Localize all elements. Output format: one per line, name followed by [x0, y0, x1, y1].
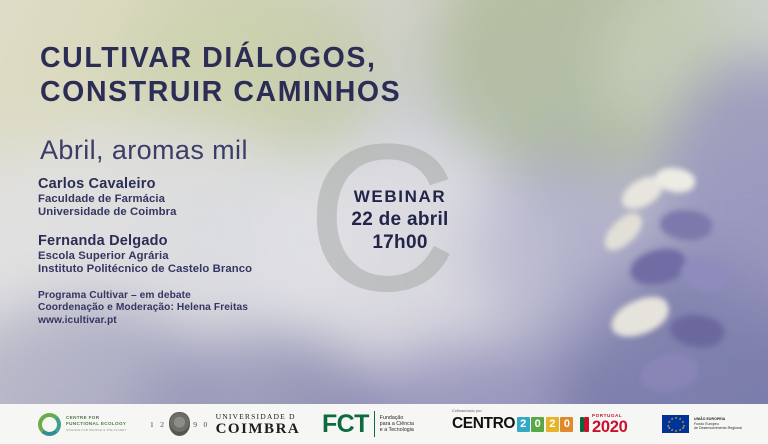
event-time: 17h00	[330, 231, 470, 254]
coimbra-line-2: COIMBRA	[216, 421, 301, 437]
speaker-item: Carlos Cavaleiro Faculdade de Farmácia U…	[38, 176, 252, 220]
title-line-1: CULTIVAR DIÁLOGOS,	[40, 41, 401, 75]
eu-line-3: de Desenvolvimento Regional	[694, 426, 742, 430]
coimbra-year-left: 1 2	[150, 420, 166, 429]
event-details: WEBINAR 22 de abril 17h00	[330, 186, 470, 254]
centro-digit-2: 0	[531, 417, 544, 432]
logo-portugal-2020: PORTUGAL 2020	[580, 413, 628, 435]
logo-centro-2020: CENTRO 2 0 2 0	[452, 415, 573, 433]
portugal-flag-icon	[580, 416, 589, 433]
webinar-poster: C CULTIVAR DIÁLOGOS, CONSTRUIR CAMINHOS …	[0, 0, 768, 444]
speaker-affiliation-line-1: Faculdade de Farmácia	[38, 193, 252, 206]
centro-wordmark: CENTRO	[452, 415, 515, 433]
university-seal-icon	[169, 412, 190, 436]
portugal-year: 2020	[592, 419, 628, 435]
centro-digit-4: 0	[560, 417, 573, 432]
poster-subtitle: Abril, aromas mil	[40, 135, 248, 166]
event-date: 22 de abril	[330, 208, 470, 231]
green-ring-icon	[38, 413, 61, 436]
event-type: WEBINAR	[330, 186, 470, 208]
speaker-affiliation-line-1: Escola Superior Agrária	[38, 250, 252, 263]
fct-line-3: e a Tecnologia	[380, 427, 414, 433]
speakers-list: Carlos Cavaleiro Faculdade de Farmácia U…	[38, 176, 252, 327]
coimbra-line-1: UNIVERSIDADE D	[216, 412, 301, 421]
coimbra-year-right: 9 0	[193, 420, 209, 429]
logo-centre-for-functional-ecology: CENTRE FOR FUNCTIONAL ECOLOGY SCIENCE FO…	[38, 413, 126, 436]
programme-line-1: Programa Cultivar – em debate	[38, 290, 252, 303]
logo-universidade-de-coimbra: 1 2 9 0 UNIVERSIDADE D COIMBRA	[150, 412, 300, 437]
sponsor-logo-bar: CENTRE FOR FUNCTIONAL ECOLOGY SCIENCE FO…	[0, 404, 768, 444]
centro-digit-1: 2	[517, 417, 530, 432]
cfe-line-2: FUNCTIONAL ECOLOGY	[66, 421, 126, 427]
title-line-2: CONSTRUIR CAMINHOS	[40, 75, 401, 109]
programme-line-2: Coordenação e Moderação: Helena Freitas	[38, 302, 252, 315]
speaker-item: Fernanda Delgado Escola Superior Agrária…	[38, 233, 252, 277]
fct-wordmark: FCT	[322, 411, 375, 437]
page-title: CULTIVAR DIÁLOGOS, CONSTRUIR CAMINHOS	[40, 41, 401, 109]
speaker-affiliation-line-2: Universidade de Coimbra	[38, 206, 252, 219]
eu-flag-icon: ★ ★ ★ ★ ★ ★ ★ ★ ★ ★ ★ ★	[662, 415, 689, 433]
programme-website[interactable]: www.icultivar.pt	[38, 315, 252, 328]
speaker-name: Fernanda Delgado	[38, 233, 252, 250]
programme-block: Programa Cultivar – em debate Coordenaçã…	[38, 290, 252, 328]
speaker-name: Carlos Cavaleiro	[38, 176, 252, 193]
cofinanced-label: Cofinanciado por:	[452, 409, 483, 413]
logo-fct: FCT Fundação para a Ciência e a Tecnolog…	[322, 411, 414, 437]
speaker-affiliation-line-2: Instituto Politécnico de Castelo Branco	[38, 263, 252, 276]
logo-european-union: ★ ★ ★ ★ ★ ★ ★ ★ ★ ★ ★ ★ UNIÃO EUROPEIA F…	[662, 415, 742, 433]
centro-digit-3: 2	[546, 417, 559, 432]
cfe-line-3: SCIENCE FOR PEOPLE & THE PLANET	[66, 428, 126, 433]
